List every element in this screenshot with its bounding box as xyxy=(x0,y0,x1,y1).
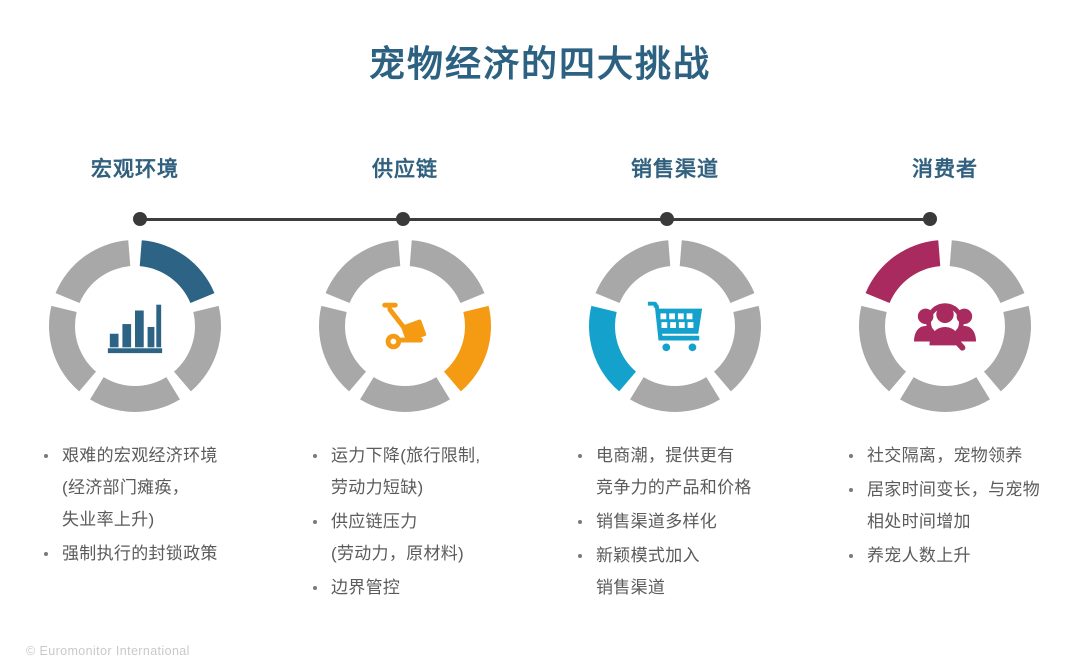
bullet-line: 供应链压力 xyxy=(331,506,540,538)
bullet-line: 相处时间增加 xyxy=(867,506,1076,538)
column-header-1: 宏观环境 xyxy=(0,153,270,183)
audience-search-icon xyxy=(857,238,1033,414)
ring-cell-2 xyxy=(270,238,540,414)
bullet-line: 社交隔离，宠物领养 xyxy=(867,440,1076,472)
bullet-line: (经济部门瘫痪， xyxy=(62,472,271,504)
ring-cell-4 xyxy=(810,238,1080,414)
donut-ring-2 xyxy=(317,238,493,414)
donut-ring-3 xyxy=(587,238,763,414)
bullet-line: 失业率上升) xyxy=(62,504,271,536)
bullet-column-4: 社交隔离，宠物领养 居家时间变长，与宠物 相处时间增加 养宠人数上升 xyxy=(809,440,1080,606)
bullet-line: 边界管控 xyxy=(331,572,540,604)
donut-ring-4 xyxy=(857,238,1033,414)
donut-ring-row xyxy=(0,238,1080,414)
connector-line xyxy=(140,218,930,221)
bullet-line: 电商潮，提供更有 xyxy=(596,440,805,472)
connector-node-2 xyxy=(396,212,410,226)
connector-node-3 xyxy=(660,212,674,226)
bullet-line: 竞争力的产品和价格 xyxy=(596,472,805,504)
column-header-4: 消费者 xyxy=(810,153,1080,183)
bullet-column-3: 电商潮，提供更有 竞争力的产品和价格 销售渠道多样化 新颖模式加入 销售渠道 xyxy=(542,440,809,606)
page-title: 宠物经济的四大挑战 xyxy=(0,42,1080,85)
bullet-line: 销售渠道多样化 xyxy=(596,506,805,538)
bullet-item: 强制执行的封锁政策 xyxy=(42,538,271,570)
donut-ring-1 xyxy=(47,238,223,414)
copyright-footer: © Euromonitor International xyxy=(26,644,190,658)
bullet-line: 劳动力短缺) xyxy=(331,472,540,504)
bullet-line: (劳动力，原材料) xyxy=(331,538,540,570)
connector-node-1 xyxy=(133,212,147,226)
bullet-item: 艰难的宏观经济环境 (经济部门瘫痪， 失业率上升) xyxy=(42,440,271,536)
slide-root: 宠物经济的四大挑战 宏观环境 供应链 销售渠道 消费者 xyxy=(0,0,1080,672)
bar-chart-icon xyxy=(47,238,223,414)
bullet-item: 养宠人数上升 xyxy=(847,540,1076,572)
connector-node-4 xyxy=(923,212,937,226)
bullet-item: 电商潮，提供更有 竞争力的产品和价格 xyxy=(576,440,805,504)
bullet-line: 养宠人数上升 xyxy=(867,540,1076,572)
bullet-line: 运力下降(旅行限制, xyxy=(331,440,540,472)
bullet-line: 居家时间变长，与宠物 xyxy=(867,474,1076,506)
bullet-item: 供应链压力 (劳动力，原材料) xyxy=(311,506,540,570)
connector-timeline xyxy=(140,212,930,226)
bullet-line: 强制执行的封锁政策 xyxy=(62,538,271,570)
bullet-line: 新颖模式加入 xyxy=(596,540,805,572)
bullet-item: 居家时间变长，与宠物 相处时间增加 xyxy=(847,474,1076,538)
bullet-column-1: 艰难的宏观经济环境 (经济部门瘫痪， 失业率上升) 强制执行的封锁政策 xyxy=(0,440,275,606)
bullet-column-2: 运力下降(旅行限制, 劳动力短缺) 供应链压力 (劳动力，原材料) 边界管控 xyxy=(275,440,542,606)
shopping-cart-icon xyxy=(587,238,763,414)
bullet-line: 销售渠道 xyxy=(596,572,805,604)
column-header-2: 供应链 xyxy=(270,153,540,183)
hand-truck-icon xyxy=(317,238,493,414)
column-header-3: 销售渠道 xyxy=(540,153,810,183)
bullet-item: 新颖模式加入 销售渠道 xyxy=(576,540,805,604)
column-headers: 宏观环境 供应链 销售渠道 消费者 xyxy=(0,153,1080,183)
bullet-line: 艰难的宏观经济环境 xyxy=(62,440,271,472)
bullet-item: 边界管控 xyxy=(311,572,540,604)
bullet-item: 社交隔离，宠物领养 xyxy=(847,440,1076,472)
bullet-item: 销售渠道多样化 xyxy=(576,506,805,538)
ring-cell-1 xyxy=(0,238,270,414)
bullet-columns: 艰难的宏观经济环境 (经济部门瘫痪， 失业率上升) 强制执行的封锁政策 运力下降… xyxy=(0,440,1080,606)
bullet-item: 运力下降(旅行限制, 劳动力短缺) xyxy=(311,440,540,504)
ring-cell-3 xyxy=(540,238,810,414)
